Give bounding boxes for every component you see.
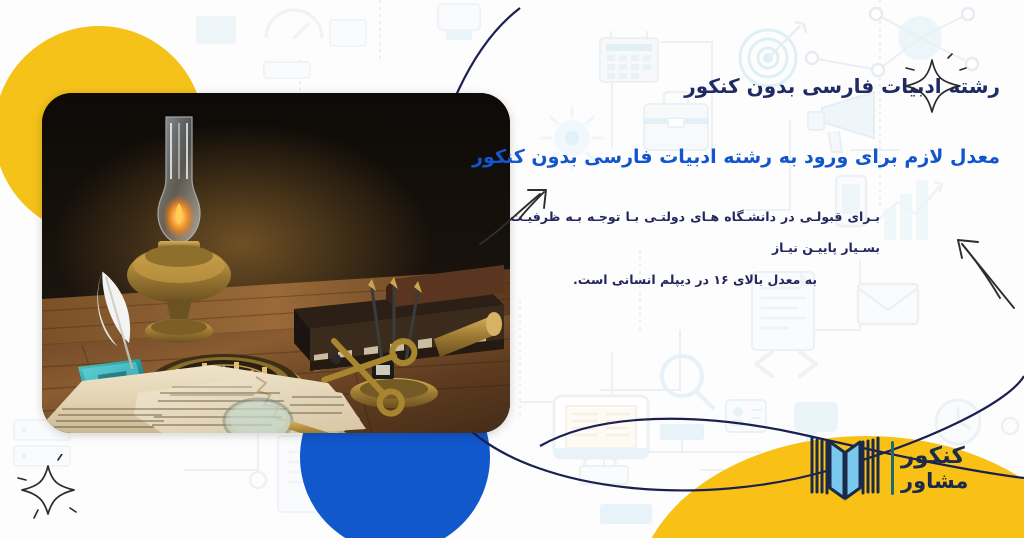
body-line-2: به معدل بالای ۱۶ در دیپلم انسانی است. (510, 264, 880, 296)
logo-word-top: کنکور (901, 444, 965, 468)
logo-divider (891, 441, 894, 495)
page-title: رشته ادبیات فارسی بدون کنکور (440, 72, 1000, 100)
body-paragraph: بـرای قبولـی در دانشـگاه هـای دولتـی بـا… (510, 201, 880, 297)
logo-word-bottom: مشاور (901, 470, 968, 492)
brand-logo[interactable]: کنکور مشاور (806, 432, 968, 504)
poster-canvas: رشته ادبیات فارسی بدون کنکور معدل لازم ب… (0, 0, 1024, 538)
logo-wordmark: کنکور مشاور (901, 444, 968, 492)
text-column: رشته ادبیات فارسی بدون کنکور معدل لازم ب… (440, 72, 1000, 296)
body-line-1: بـرای قبولـی در دانشـگاه هـای دولتـی بـا… (510, 209, 880, 256)
open-book-icon (806, 432, 884, 504)
page-subtitle: معدل لازم برای ورود به رشته ادبیات فارسی… (440, 144, 1000, 171)
